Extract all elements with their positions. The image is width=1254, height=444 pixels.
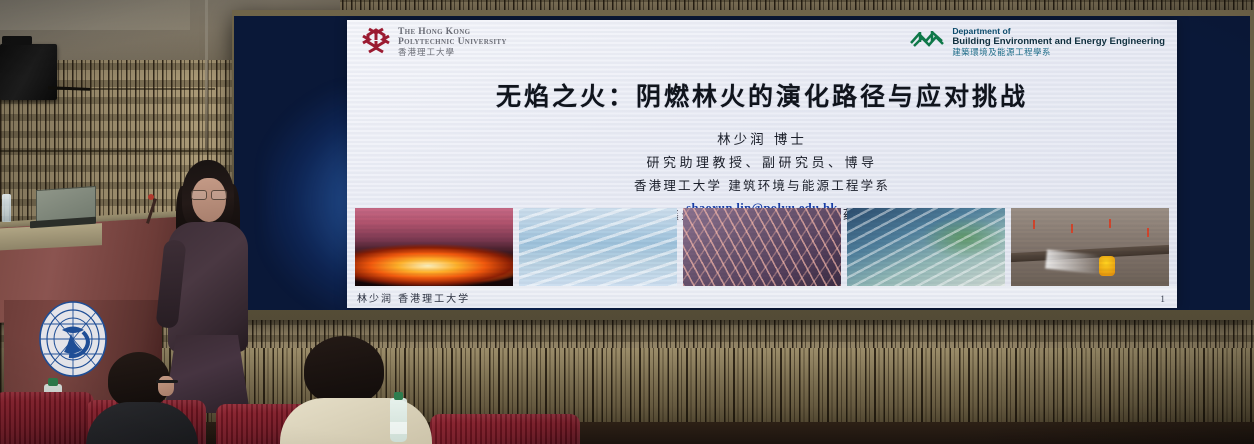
water-bottle-held	[390, 398, 407, 442]
polyu-logo-chinese: 香港理工大學	[398, 48, 507, 57]
polyu-logo: The Hong Kong Polytechnic University 香港理…	[361, 27, 507, 57]
auditorium-chair	[0, 392, 94, 444]
photo-burnt-roots	[683, 208, 841, 286]
shoulders	[86, 402, 198, 444]
presenter-role: 研究助理教授、副研究员、博导	[347, 152, 1177, 171]
auditorium-chair	[430, 414, 580, 444]
presenter-block: 林少润 博士 研究助理教授、副研究员、博导 香港理工大学 建筑环境与能源工程学系…	[347, 128, 1177, 216]
photo-strip	[355, 208, 1169, 286]
beee-knot-icon	[909, 27, 945, 51]
dept-logo-line2: Building Environment and Energy Engineer…	[952, 37, 1165, 48]
photo-fire-line	[355, 208, 513, 286]
field-marker	[1147, 228, 1149, 237]
water-bottle-on-podium	[2, 194, 11, 222]
ear-and-cheek	[158, 376, 174, 396]
slide-page-number: 1	[1160, 295, 1165, 305]
presentation-display[interactable]: The Hong Kong Polytechnic University 香港理…	[234, 16, 1250, 310]
head	[304, 336, 384, 404]
audience-member-front-left	[86, 352, 196, 444]
polyu-logo-line2: Polytechnic University	[398, 38, 507, 48]
photo-water-suppression	[847, 208, 1005, 286]
field-marker	[1033, 220, 1035, 229]
eyeglasses-icon	[156, 380, 178, 383]
presenter-name: 林少润 博士	[347, 128, 1177, 148]
slide-footer-text: 林少润 香港理工大学	[357, 290, 470, 305]
screenshot-root: The Hong Kong Polytechnic University 香港理…	[0, 0, 1254, 444]
photo-smoke-plume	[519, 208, 677, 286]
field-marker	[1071, 224, 1073, 233]
department-logo: Department of Building Environment and E…	[909, 27, 1165, 58]
field-marker	[1109, 219, 1111, 228]
slide-footer: 林少润 香港理工大学	[347, 286, 1177, 308]
water-spray	[1045, 250, 1113, 276]
eyeglasses-icon	[191, 190, 227, 198]
dept-logo-chinese: 建築環境及能源工程學系	[952, 48, 1165, 57]
photo-field-experiment	[1011, 208, 1169, 286]
audience-member-front-center	[286, 336, 426, 444]
slide-header: The Hong Kong Polytechnic University 香港理…	[347, 20, 1177, 66]
presenter-affiliation: 香港理工大学 建筑环境与能源工程学系	[347, 175, 1177, 194]
face	[192, 178, 226, 222]
microphone-icon	[148, 194, 154, 200]
slide-title: 无焰之火：阴燃林火的演化路径与应对挑战	[347, 77, 1177, 113]
polyu-knot-icon	[361, 27, 391, 55]
presentation-slide: The Hong Kong Polytechnic University 香港理…	[347, 20, 1177, 308]
shoulders	[280, 398, 432, 444]
